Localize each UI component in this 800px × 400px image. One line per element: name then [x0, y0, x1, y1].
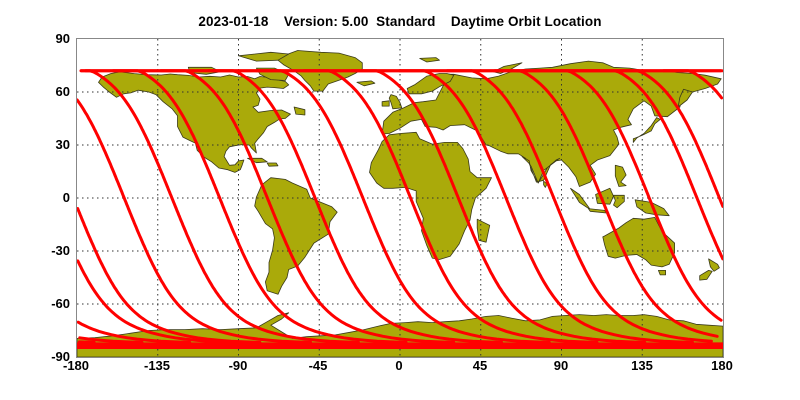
landmass-newfoundland: [294, 107, 305, 115]
landmass-north-america: [99, 72, 291, 172]
map-svg: [77, 39, 723, 357]
landmass-svalbard: [420, 58, 440, 62]
landmass-japan: [633, 118, 660, 143]
landmass-madagascar: [477, 219, 490, 242]
x-tick-label-neg135: -135: [127, 358, 187, 373]
landmass-sumatra: [571, 188, 591, 209]
chart-title: 2023-01-18 Version: 5.00 Standard Daytim…: [0, 14, 800, 29]
x-tick-label-135: 135: [612, 358, 672, 373]
x-tick-label-45: 45: [450, 358, 510, 373]
y-tick-label-60: 60: [0, 84, 70, 99]
x-tick-label-90: 90: [531, 358, 591, 373]
landmass-africa: [370, 132, 492, 259]
map-plot-area: [76, 38, 724, 358]
landmass-sulawesi: [614, 195, 625, 207]
landmass-philippines: [615, 165, 626, 186]
landmass-iceland: [357, 81, 375, 86]
y-tick-label-0: 0: [0, 190, 70, 205]
x-tick-label-neg45: -45: [288, 358, 348, 373]
landmass-hispaniola: [267, 163, 278, 166]
x-tick-label-neg180: -180: [46, 358, 106, 373]
landmass-ireland: [382, 101, 389, 106]
orbit-track-9-seg1: [79, 342, 94, 343]
x-tick-label-0: 0: [369, 358, 429, 373]
landmass-java: [588, 209, 606, 213]
x-tick-label-180: 180: [692, 358, 752, 373]
y-tick-label-neg30: -30: [0, 243, 70, 258]
y-tick-label-neg60: -60: [0, 296, 70, 311]
landmass-new-zealand-n: [709, 259, 720, 271]
y-tick-label-90: 90: [0, 31, 70, 46]
landmass-new-zealand-s: [700, 270, 713, 280]
x-tick-label-neg90: -90: [208, 358, 268, 373]
y-tick-label-30: 30: [0, 137, 70, 152]
orbit-location-chart: 2023-01-18 Version: 5.00 Standard Daytim…: [0, 0, 800, 400]
landmass-britain: [389, 95, 402, 109]
landmass-tasmania: [658, 270, 665, 275]
